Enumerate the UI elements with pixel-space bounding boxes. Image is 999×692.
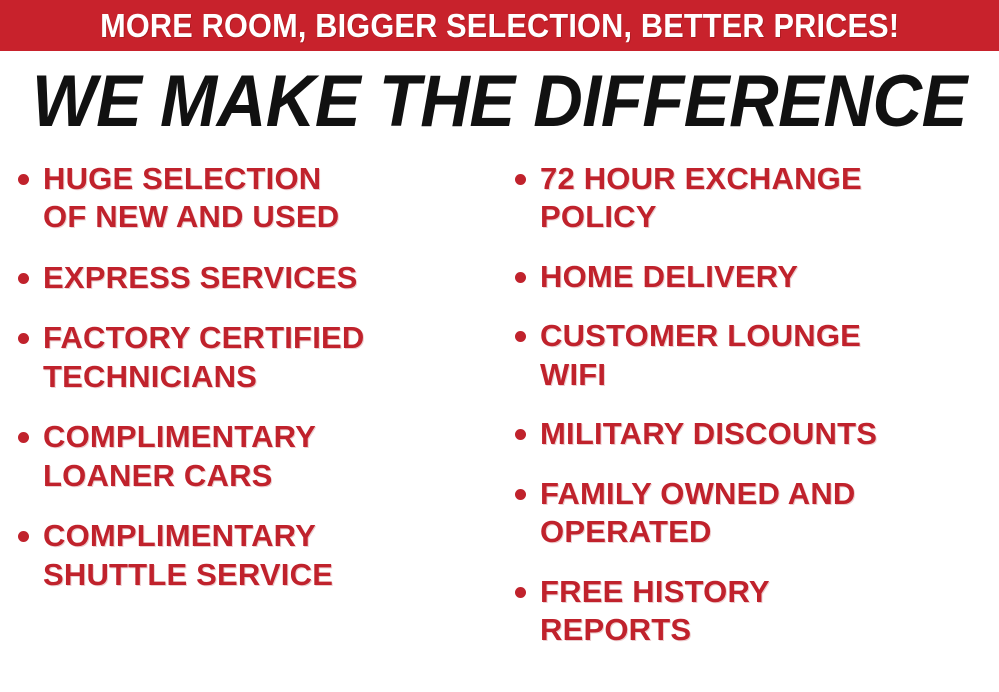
list-item-label: FACTORY CERTIFIED TECHNICIANS	[43, 319, 364, 396]
list-item: FAMILY OWNED AND OPERATED	[515, 475, 999, 552]
list-item-label: EXPRESS SERVICES	[43, 259, 357, 297]
page-title: WE MAKE THE DIFFERENCE	[32, 65, 967, 138]
bullet-dot-icon	[515, 429, 526, 440]
list-item-label: FAMILY OWNED AND OPERATED	[540, 475, 856, 552]
bullet-dot-icon	[18, 432, 29, 443]
benefits-column-left: HUGE SELECTION OF NEW AND USED EXPRESS S…	[0, 150, 500, 616]
list-item-label: 72 HOUR EXCHANGE POLICY	[540, 160, 862, 237]
list-item-label: FREE HISTORY REPORTS	[540, 573, 770, 650]
list-item: CUSTOMER LOUNGE WIFI	[515, 317, 999, 394]
list-item: MILITARY DISCOUNTS	[515, 415, 999, 453]
bullet-dot-icon	[18, 531, 29, 542]
bullet-dot-icon	[18, 174, 29, 185]
list-item: HOME DELIVERY	[515, 258, 999, 296]
list-item-label: COMPLIMENTARY LOANER CARS	[43, 418, 316, 495]
list-item: COMPLIMENTARY LOANER CARS	[18, 418, 500, 495]
list-item-label: HUGE SELECTION OF NEW AND USED	[43, 160, 339, 237]
list-item-label: HOME DELIVERY	[540, 258, 798, 296]
list-item: EXPRESS SERVICES	[18, 259, 500, 297]
list-item-label: COMPLIMENTARY SHUTTLE SERVICE	[43, 517, 333, 594]
dealership-advertisement: MORE ROOM, BIGGER SELECTION, BETTER PRIC…	[0, 0, 999, 692]
bullet-dot-icon	[18, 333, 29, 344]
list-item: FACTORY CERTIFIED TECHNICIANS	[18, 319, 500, 396]
benefits-column-right: 72 HOUR EXCHANGE POLICY HOME DELIVERY CU…	[500, 150, 999, 670]
list-item: FREE HISTORY REPORTS	[515, 573, 999, 650]
list-item-label: CUSTOMER LOUNGE WIFI	[540, 317, 861, 394]
bullet-dot-icon	[515, 272, 526, 283]
promo-banner-text: MORE ROOM, BIGGER SELECTION, BETTER PRIC…	[100, 9, 899, 42]
benefits-columns: HUGE SELECTION OF NEW AND USED EXPRESS S…	[0, 150, 999, 692]
bullet-dot-icon	[515, 489, 526, 500]
headline-container: WE MAKE THE DIFFERENCE	[0, 57, 999, 145]
list-item: COMPLIMENTARY SHUTTLE SERVICE	[18, 517, 500, 594]
bullet-dot-icon	[18, 273, 29, 284]
bullet-dot-icon	[515, 331, 526, 342]
list-item: 72 HOUR EXCHANGE POLICY	[515, 160, 999, 237]
list-item: HUGE SELECTION OF NEW AND USED	[18, 160, 500, 237]
bullet-dot-icon	[515, 174, 526, 185]
promo-banner: MORE ROOM, BIGGER SELECTION, BETTER PRIC…	[0, 0, 999, 51]
list-item-label: MILITARY DISCOUNTS	[540, 415, 877, 453]
bullet-dot-icon	[515, 587, 526, 598]
